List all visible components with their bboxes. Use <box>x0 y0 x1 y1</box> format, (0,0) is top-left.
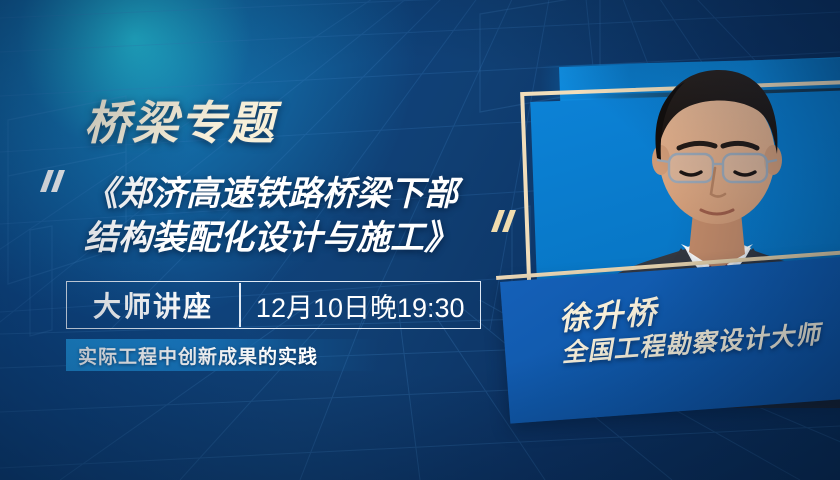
lecture-date-label: 12月10日晚19:30 <box>241 282 481 328</box>
quote-open-icon <box>36 168 66 194</box>
speaker-nameplate: 徐升桥 全国工程勘察设计大师 <box>500 256 840 423</box>
subtitle-banner-label: 实际工程中创新成果的实践 <box>66 342 318 369</box>
book-title-line-1: 《郑济高速铁路桥梁下部 <box>84 173 504 217</box>
lecture-tag-label: 大师讲座 <box>67 282 239 328</box>
subtitle-banner: 实际工程中创新成果的实践 <box>66 339 378 371</box>
book-title: 《郑济高速铁路桥梁下部 结构装配化设计与施工》 <box>84 173 504 260</box>
poster-canvas: 桥梁专题 《郑济高速铁路桥梁下部 结构装配化设计与施工》 大师讲座 12月10日… <box>0 0 840 480</box>
quote-close-icon <box>487 208 517 234</box>
book-title-line-2: 结构装配化设计与施工》 <box>84 217 504 261</box>
lecture-info-bar: 大师讲座 12月10日晚19:30 <box>66 281 481 329</box>
page-title: 桥梁专题 <box>84 100 276 146</box>
